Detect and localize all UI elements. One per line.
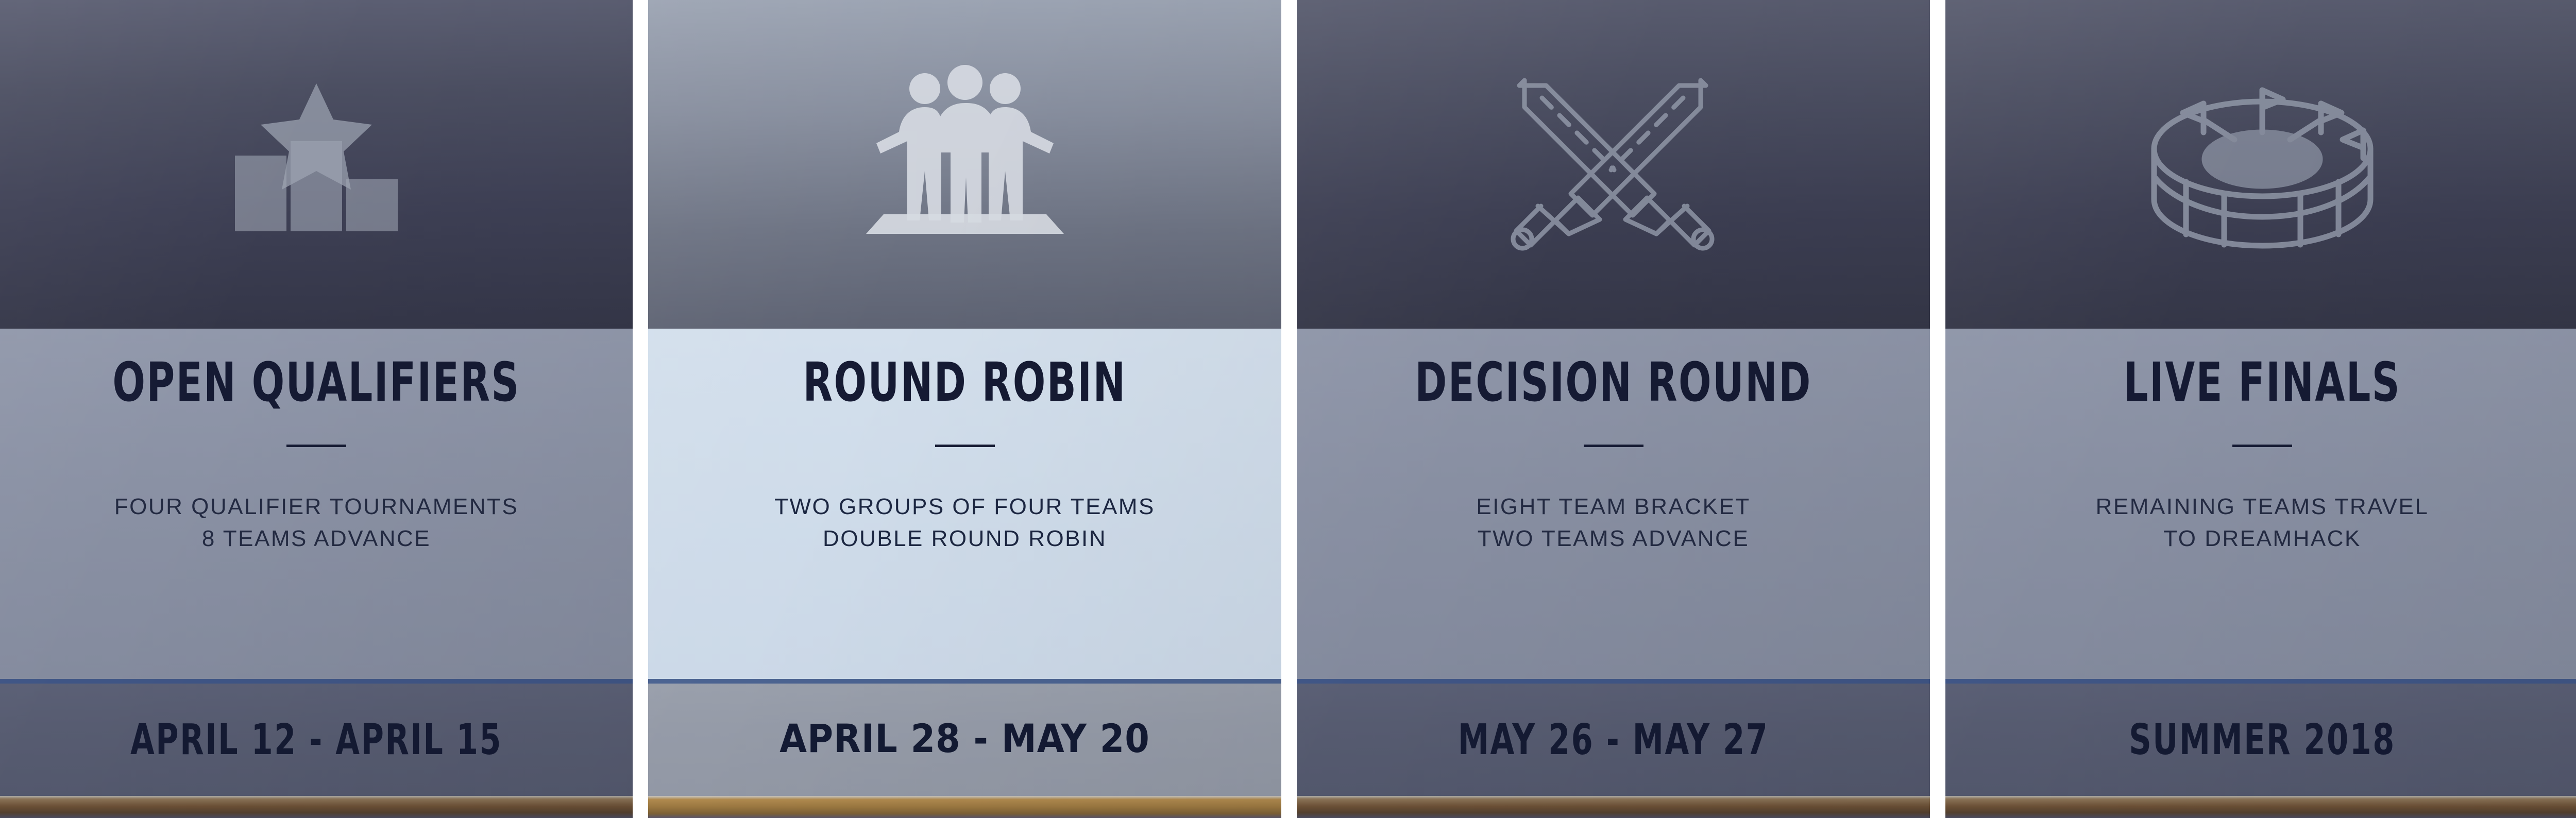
card-description: REMAINING TEAMS TRAVEL TO DREAMHACK bbox=[1945, 491, 2576, 555]
accent-line bbox=[0, 679, 633, 684]
accent-line bbox=[648, 679, 1281, 684]
accent-line bbox=[1297, 679, 1930, 684]
card-body-live-finals: LIVE FINALS REMAINING TEAMS TRAVEL TO DR… bbox=[1945, 329, 2576, 679]
card-title: OPEN QUALIFIERS bbox=[63, 355, 569, 409]
card-header-live-finals bbox=[1945, 0, 2576, 329]
podium-star-icon bbox=[0, 0, 633, 329]
bottom-gold-strip bbox=[1945, 796, 2576, 818]
title-divider bbox=[286, 445, 346, 447]
description-line-2: 8 TEAMS ADVANCE bbox=[0, 523, 633, 555]
stage-card-live-finals[interactable]: LIVE FINALS REMAINING TEAMS TRAVEL TO DR… bbox=[1945, 0, 2576, 818]
card-header-round-robin bbox=[648, 0, 1281, 329]
stadium-arena-icon bbox=[1945, 0, 2576, 329]
bottom-gold-strip bbox=[0, 796, 633, 818]
card-header-decision-round bbox=[1297, 0, 1930, 329]
card-description: EIGHT TEAM BRACKET TWO TEAMS ADVANCE bbox=[1297, 491, 1930, 555]
card-title: LIVE FINALS bbox=[2009, 355, 2516, 409]
card-body-open-qualifiers: OPEN QUALIFIERS FOUR QUALIFIER TOURNAMEN… bbox=[0, 329, 633, 679]
title-divider bbox=[935, 445, 995, 447]
title-divider bbox=[2232, 445, 2292, 447]
crossed-swords-icon bbox=[1297, 0, 1930, 329]
card-footer-round-robin: APRIL 28 - MAY 20 bbox=[648, 679, 1281, 796]
card-description: TWO GROUPS OF FOUR TEAMS DOUBLE ROUND RO… bbox=[648, 491, 1281, 555]
card-body-round-robin: ROUND ROBIN TWO GROUPS OF FOUR TEAMS DOU… bbox=[648, 329, 1281, 679]
description-line-2: TO DREAMHACK bbox=[1945, 523, 2576, 555]
card-header-open-qualifiers bbox=[0, 0, 633, 329]
card-footer-decision-round: MAY 26 - MAY 27 bbox=[1297, 679, 1930, 796]
accent-line bbox=[1945, 679, 2576, 684]
stage-card-round-robin[interactable]: ROUND ROBIN TWO GROUPS OF FOUR TEAMS DOU… bbox=[648, 0, 1281, 818]
card-date: MAY 26 - MAY 27 bbox=[1354, 719, 1873, 761]
description-line-1: FOUR QUALIFIER TOURNAMENTS bbox=[0, 491, 633, 523]
tournament-stage-timeline: OPEN QUALIFIERS FOUR QUALIFIER TOURNAMEN… bbox=[0, 0, 2576, 818]
card-body-decision-round: DECISION ROUND EIGHT TEAM BRACKET TWO TE… bbox=[1297, 329, 1930, 679]
description-line-1: EIGHT TEAM BRACKET bbox=[1297, 491, 1930, 523]
card-title: DECISION ROUND bbox=[1360, 355, 1867, 409]
card-description: FOUR QUALIFIER TOURNAMENTS 8 TEAMS ADVAN… bbox=[0, 491, 633, 555]
card-date: SUMMER 2018 bbox=[2003, 719, 2522, 761]
card-footer-open-qualifiers: APRIL 12 - APRIL 15 bbox=[0, 679, 633, 796]
bottom-gold-strip bbox=[648, 796, 1281, 818]
description-line-1: TWO GROUPS OF FOUR TEAMS bbox=[648, 491, 1281, 523]
bottom-gold-strip bbox=[1297, 796, 1930, 818]
description-line-1: REMAINING TEAMS TRAVEL bbox=[1945, 491, 2576, 523]
card-date: APRIL 28 - MAY 20 bbox=[648, 719, 1281, 758]
description-line-2: DOUBLE ROUND ROBIN bbox=[648, 523, 1281, 555]
title-divider bbox=[1584, 445, 1643, 447]
card-footer-live-finals: SUMMER 2018 bbox=[1945, 679, 2576, 796]
card-title: ROUND ROBIN bbox=[711, 355, 1218, 409]
card-date: APRIL 12 - APRIL 15 bbox=[57, 719, 576, 761]
description-line-2: TWO TEAMS ADVANCE bbox=[1297, 523, 1930, 555]
three-players-icon bbox=[648, 0, 1281, 329]
stage-card-open-qualifiers[interactable]: OPEN QUALIFIERS FOUR QUALIFIER TOURNAMEN… bbox=[0, 0, 633, 818]
stage-card-decision-round[interactable]: DECISION ROUND EIGHT TEAM BRACKET TWO TE… bbox=[1297, 0, 1930, 818]
